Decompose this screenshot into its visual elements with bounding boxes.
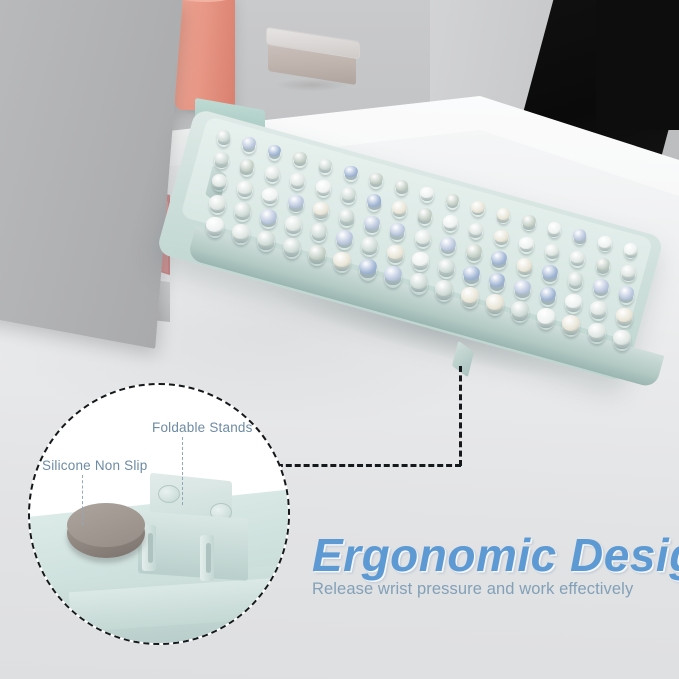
keycap	[364, 216, 380, 235]
stand-slot-left	[148, 533, 153, 563]
keycap	[613, 330, 631, 352]
keycap	[491, 251, 507, 270]
keycap-top	[415, 230, 431, 244]
callout-label-silicone-non-slip: Silicone Non Slip	[42, 458, 147, 473]
keycap-top	[497, 208, 511, 220]
subheadline: Release wrist pressure and work effectiv…	[312, 580, 633, 599]
keycap	[209, 195, 226, 215]
keycap	[387, 245, 404, 265]
headline: Ergonomic Design	[312, 528, 679, 582]
keycap	[217, 130, 231, 146]
keycap-top	[593, 279, 609, 293]
keycap-top	[486, 294, 504, 309]
keycap	[214, 152, 229, 170]
keycap-top	[463, 266, 480, 280]
keycap-top	[573, 229, 587, 241]
keycap	[542, 265, 558, 284]
connector-line-vertical	[459, 366, 462, 466]
keycap	[392, 201, 407, 219]
stand-slot-right	[206, 543, 211, 573]
keycap-top	[568, 272, 584, 286]
keycap-top	[341, 187, 356, 200]
keycap-top	[522, 215, 536, 227]
keycap	[443, 215, 458, 233]
keycap-top	[288, 195, 304, 209]
keycap-top	[283, 238, 301, 253]
keycap-top	[387, 245, 404, 259]
keycap-top	[598, 236, 612, 248]
callout-leader-silicone-non-slip	[82, 475, 83, 525]
keycap	[237, 181, 253, 200]
keycap	[466, 244, 482, 263]
grey-monitor	[0, 0, 183, 349]
keycap	[593, 279, 609, 298]
keycap	[308, 245, 326, 267]
keycap	[240, 159, 255, 177]
keycap	[471, 201, 485, 217]
keycap	[410, 273, 428, 295]
keycap-top	[260, 209, 277, 223]
keycap-top	[514, 280, 531, 294]
keycap-top	[491, 251, 507, 265]
keycap-top	[519, 237, 534, 250]
keycap	[415, 230, 431, 249]
keycap	[514, 280, 531, 300]
keycap	[494, 230, 509, 248]
keycap	[232, 224, 250, 246]
silicone-foot-top	[67, 503, 145, 547]
keycap-top	[410, 273, 428, 288]
keycap-top	[206, 217, 224, 232]
keycap-top	[336, 230, 353, 244]
keycap	[469, 223, 484, 241]
keycap-top	[511, 301, 529, 316]
keycap-top	[624, 243, 638, 255]
keycap-top	[293, 152, 307, 164]
keycap	[257, 231, 275, 253]
keycap-top	[469, 223, 484, 236]
keycap	[519, 237, 534, 255]
keycap-top	[542, 265, 558, 279]
keycap-top	[613, 330, 631, 345]
keycap-top	[412, 252, 429, 266]
keycap	[438, 259, 455, 279]
keycap	[463, 266, 480, 286]
keycap	[522, 215, 536, 231]
keycap	[540, 287, 557, 307]
keycap	[283, 238, 301, 260]
stand-screw-1	[158, 485, 180, 503]
keycap-top	[364, 216, 380, 230]
keycap-top	[537, 308, 555, 323]
keycap	[616, 308, 633, 328]
pink-tumbler	[175, 0, 235, 110]
keycap-top	[232, 224, 250, 239]
keycap-top	[234, 202, 251, 216]
keycap	[384, 266, 402, 288]
keycap	[565, 294, 582, 314]
keycap-top	[209, 195, 226, 209]
callout-leader-foldable-stands	[182, 437, 183, 505]
keycap-top	[443, 215, 458, 228]
keycap	[486, 294, 504, 316]
connector-line-horizontal	[268, 464, 461, 467]
keycap	[418, 208, 433, 226]
keycap	[344, 166, 358, 182]
keycap	[420, 187, 434, 203]
keycap-top	[616, 308, 633, 322]
keycap	[435, 280, 453, 302]
keycap	[268, 145, 282, 161]
keycap-top	[240, 159, 255, 172]
callout-label-foldable-stands: Foldable Stands	[152, 420, 253, 435]
keycap	[570, 251, 585, 269]
keycap-top	[242, 137, 256, 149]
keycap	[461, 287, 479, 309]
keycap-top	[438, 259, 455, 273]
keycap	[440, 237, 456, 256]
keycap-top	[392, 201, 407, 214]
keycap-top	[517, 258, 533, 272]
keycap	[319, 159, 333, 175]
keycap	[359, 259, 377, 281]
retro-keyboard	[196, 108, 679, 358]
keycap-top	[446, 194, 460, 206]
keycap-top	[619, 286, 635, 300]
keycap	[316, 180, 331, 198]
keycap-top	[466, 244, 482, 258]
keycap	[288, 195, 304, 214]
keycap-top	[440, 237, 456, 251]
keycap-top	[471, 201, 485, 213]
keycap-top	[344, 166, 358, 178]
keycap	[588, 323, 606, 345]
keycap	[293, 152, 307, 168]
keycap	[390, 223, 406, 242]
product-marketing-image: Foldable Stands Silicone Non Slip Ergono…	[0, 0, 679, 679]
keycap-top	[237, 181, 253, 195]
keycap	[341, 187, 356, 205]
keycap-top	[316, 180, 331, 193]
keycap	[260, 209, 277, 229]
keycap-top	[212, 174, 228, 188]
keycap-top	[313, 202, 329, 216]
keycap-top	[262, 188, 278, 202]
keycap-top	[311, 223, 328, 237]
keycap	[265, 166, 280, 184]
keycap-top	[588, 323, 606, 338]
keycap	[290, 173, 305, 191]
keycap	[369, 173, 383, 189]
keycap-top	[290, 173, 305, 186]
keycap-top	[494, 230, 509, 243]
keycap-top	[265, 166, 280, 179]
keycap	[489, 273, 506, 293]
keycap	[339, 209, 355, 228]
keycap-top	[361, 237, 378, 251]
keycap-top	[461, 287, 479, 302]
keycap	[206, 217, 224, 239]
keycap-top	[418, 208, 433, 221]
keycap-top	[435, 280, 453, 295]
keycap	[537, 308, 555, 330]
keycap	[412, 252, 429, 272]
keycap	[242, 137, 256, 153]
keycap	[621, 265, 636, 283]
keycap-top	[285, 216, 302, 230]
keycap-top	[548, 222, 562, 234]
